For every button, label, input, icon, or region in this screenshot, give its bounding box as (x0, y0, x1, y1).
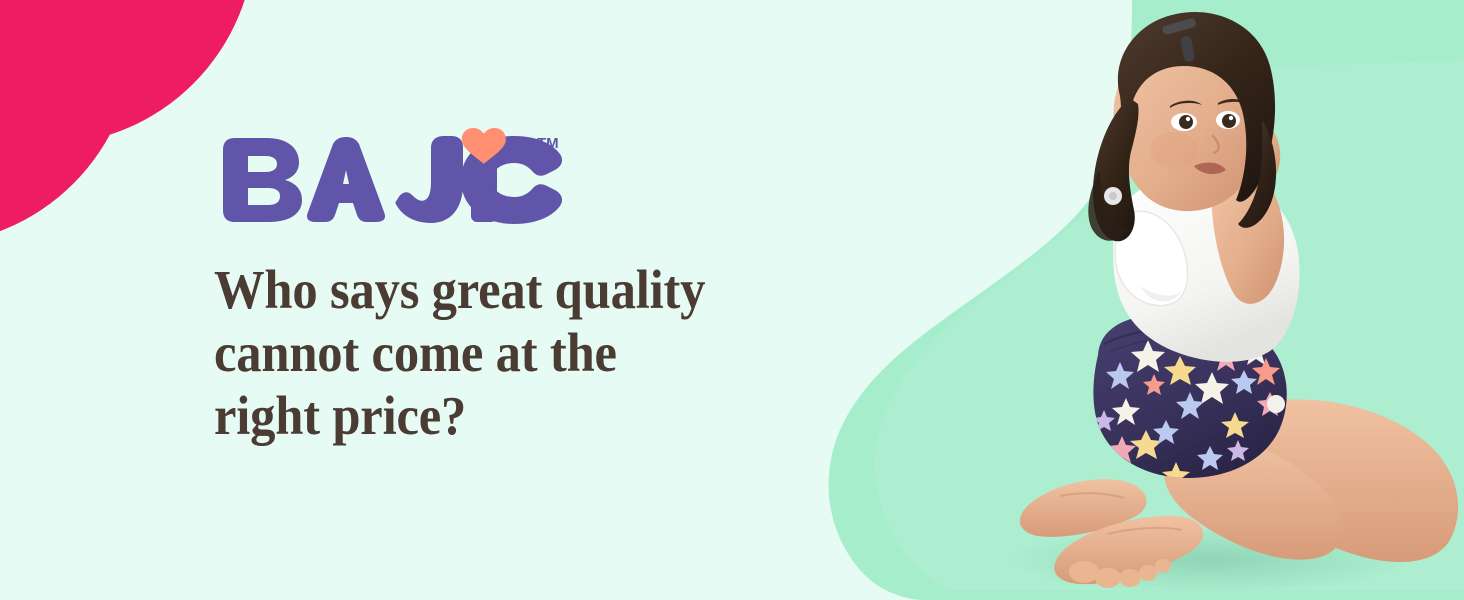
headline: Who says great quality cannot come at th… (214, 258, 803, 447)
diaper-snap (1267, 395, 1285, 413)
brand-logo[interactable]: TM (215, 126, 575, 226)
logo-letter-b (223, 138, 302, 222)
headline-line-1: Who says great quality (214, 258, 803, 321)
toddler-photo (980, 0, 1464, 600)
trademark-symbol: TM (537, 135, 559, 152)
brand-banner: TM Who says great quality cannot come at… (0, 0, 1464, 600)
headline-line-2: cannot come at the (214, 321, 803, 384)
logo-wordmark (223, 136, 562, 224)
pink-blob-fill (0, 0, 60, 120)
logo-letter-a (307, 137, 385, 222)
logo-letter-s (396, 136, 464, 223)
cheek-shading (1150, 132, 1198, 168)
headline-line-3: right price? (214, 384, 803, 447)
